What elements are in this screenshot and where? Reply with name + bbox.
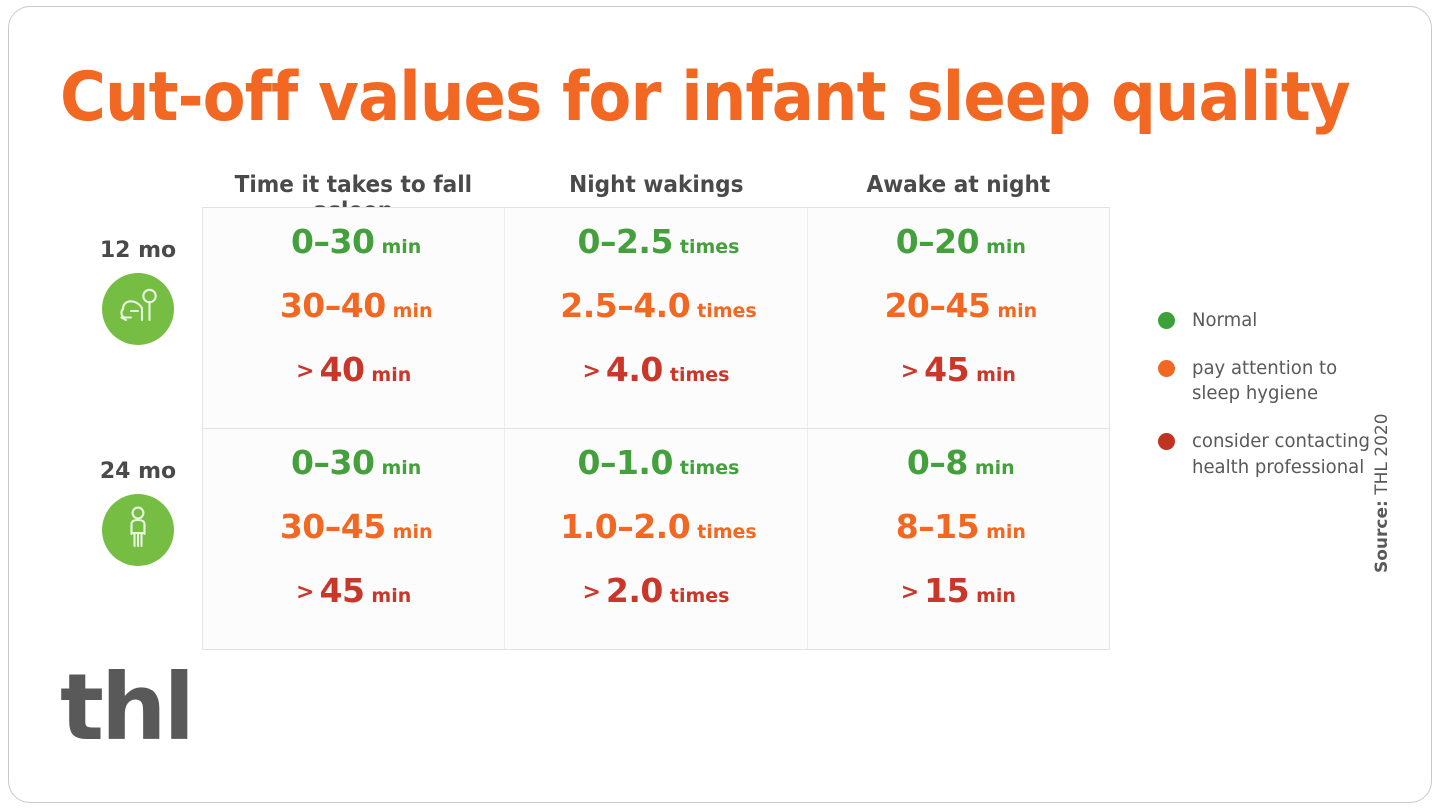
table-row-12mo: 0–30 min 30–40 min > 40 min 0–2.5 bbox=[203, 208, 1109, 429]
value-unit: times bbox=[697, 521, 757, 543]
age-group-12mo: 12 mo bbox=[78, 238, 198, 345]
value-unit: times bbox=[697, 300, 757, 322]
value-number: 15 bbox=[924, 571, 969, 610]
value-unit: min bbox=[371, 585, 411, 607]
infographic-canvas: Cut-off values for infant sleep quality … bbox=[0, 0, 1440, 809]
column-header-fall-asleep: Time it takes to fall asleep bbox=[211, 172, 496, 206]
cell-24mo-night-wakings: 0–1.0 times 1.0–2.0 times > 2.0 times bbox=[505, 429, 807, 650]
value-unit: times bbox=[670, 585, 730, 607]
value-number: 30–40 bbox=[280, 286, 386, 325]
cell-12mo-night-wakings: 0–2.5 times 2.5–4.0 times > 4.0 times bbox=[505, 208, 807, 428]
value-unit: min bbox=[986, 521, 1026, 543]
value-12mo-awake-contact: > 45 min bbox=[901, 350, 1016, 414]
gt-symbol: > bbox=[582, 580, 600, 605]
value-number: 2.0 bbox=[606, 571, 663, 610]
value-number: 20–45 bbox=[884, 286, 990, 325]
value-12mo-night-wakings-contact: > 4.0 times bbox=[582, 350, 729, 414]
standing-toddler-icon bbox=[124, 506, 152, 555]
gt-symbol: > bbox=[901, 580, 919, 605]
column-header-row: Time it takes to fall asleep Night wakin… bbox=[202, 172, 1110, 206]
source-value: THL 2020 bbox=[1372, 413, 1392, 494]
value-unit: min bbox=[381, 457, 421, 479]
cell-12mo-awake-at-night: 0–20 min 20–45 min > 45 min bbox=[808, 208, 1109, 428]
column-header-night-wakings: Night wakings bbox=[514, 172, 799, 206]
value-number: 30–45 bbox=[280, 507, 386, 546]
value-number: 45 bbox=[924, 350, 969, 389]
value-24mo-fall-asleep-attention: 30–45 min bbox=[275, 507, 433, 571]
value-24mo-awake-contact: > 15 min bbox=[901, 571, 1016, 635]
legend-dot-normal-icon bbox=[1158, 312, 1175, 329]
source-credit: Source: THL 2020 bbox=[1372, 373, 1392, 573]
value-unit: times bbox=[670, 364, 730, 386]
table-row-24mo: 0–30 min 30–45 min > 45 min 0–1.0 bbox=[203, 429, 1109, 650]
value-unit: times bbox=[680, 457, 740, 479]
value-number: 0–2.5 bbox=[577, 222, 672, 261]
crawling-baby-icon bbox=[115, 287, 161, 332]
legend-label-contact: consider contactinghealth professional bbox=[1192, 429, 1370, 480]
age-icon-circle-12mo bbox=[102, 273, 174, 345]
value-unit: min bbox=[976, 364, 1016, 386]
legend-label-attention: pay attention tosleep hygiene bbox=[1192, 356, 1337, 407]
value-unit: min bbox=[381, 236, 421, 258]
value-12mo-awake-attention: 20–45 min bbox=[879, 286, 1037, 350]
gt-symbol: > bbox=[296, 580, 314, 605]
value-unit: min bbox=[393, 300, 433, 322]
age-icon-circle-24mo bbox=[102, 494, 174, 566]
cell-12mo-fall-asleep: 0–30 min 30–40 min > 40 min bbox=[203, 208, 505, 428]
cutoff-values-table: 0–30 min 30–40 min > 40 min 0–2.5 bbox=[202, 207, 1110, 650]
value-12mo-fall-asleep-attention: 30–40 min bbox=[275, 286, 433, 350]
value-unit: min bbox=[976, 585, 1016, 607]
value-12mo-fall-asleep-contact: > 40 min bbox=[296, 350, 411, 414]
value-number: 2.5–4.0 bbox=[560, 286, 690, 325]
value-number: 8–15 bbox=[896, 507, 979, 546]
value-12mo-night-wakings-normal: 0–2.5 times bbox=[572, 222, 739, 286]
value-number: 0–1.0 bbox=[577, 443, 672, 482]
value-unit: min bbox=[975, 457, 1015, 479]
legend-dot-attention-icon bbox=[1158, 360, 1175, 377]
value-24mo-night-wakings-attention: 1.0–2.0 times bbox=[555, 507, 757, 571]
value-12mo-fall-asleep-normal: 0–30 min bbox=[286, 222, 421, 286]
value-24mo-night-wakings-normal: 0–1.0 times bbox=[572, 443, 739, 507]
value-unit: min bbox=[393, 521, 433, 543]
gt-symbol: > bbox=[582, 359, 600, 384]
value-24mo-night-wakings-contact: > 2.0 times bbox=[582, 571, 729, 635]
value-number: 0–20 bbox=[896, 222, 979, 261]
value-number: 40 bbox=[319, 350, 364, 389]
thl-logo: thl bbox=[60, 662, 192, 754]
age-label-24mo: 24 mo bbox=[78, 459, 198, 484]
legend-label-normal: Normal bbox=[1192, 308, 1257, 334]
value-number: 0–30 bbox=[291, 443, 374, 482]
column-header-awake-at-night: Awake at night bbox=[816, 172, 1101, 206]
value-24mo-fall-asleep-contact: > 45 min bbox=[296, 571, 411, 635]
value-24mo-fall-asleep-normal: 0–30 min bbox=[286, 443, 421, 507]
value-unit: min bbox=[371, 364, 411, 386]
value-number: 4.0 bbox=[606, 350, 663, 389]
value-unit: min bbox=[986, 236, 1026, 258]
value-24mo-awake-normal: 0–8 min bbox=[902, 443, 1015, 507]
gt-symbol: > bbox=[901, 359, 919, 384]
value-number: 0–30 bbox=[291, 222, 374, 261]
value-unit: times bbox=[680, 236, 740, 258]
page-title: Cut-off values for infant sleep quality bbox=[60, 58, 1350, 137]
value-12mo-awake-normal: 0–20 min bbox=[891, 222, 1026, 286]
value-number: 1.0–2.0 bbox=[560, 507, 690, 546]
age-label-12mo: 12 mo bbox=[78, 238, 198, 263]
value-number: 45 bbox=[319, 571, 364, 610]
value-unit: min bbox=[997, 300, 1037, 322]
age-group-24mo: 24 mo bbox=[78, 459, 198, 566]
legend-dot-contact-icon bbox=[1158, 433, 1175, 450]
value-24mo-awake-attention: 8–15 min bbox=[891, 507, 1026, 571]
source-prefix: Source: bbox=[1372, 500, 1392, 573]
cell-24mo-awake-at-night: 0–8 min 8–15 min > 15 min bbox=[808, 429, 1109, 650]
legend-item-normal: Normal bbox=[1158, 308, 1426, 334]
value-number: 0–8 bbox=[907, 443, 968, 482]
value-12mo-night-wakings-attention: 2.5–4.0 times bbox=[555, 286, 757, 350]
cell-24mo-fall-asleep: 0–30 min 30–45 min > 45 min bbox=[203, 429, 505, 650]
gt-symbol: > bbox=[296, 359, 314, 384]
